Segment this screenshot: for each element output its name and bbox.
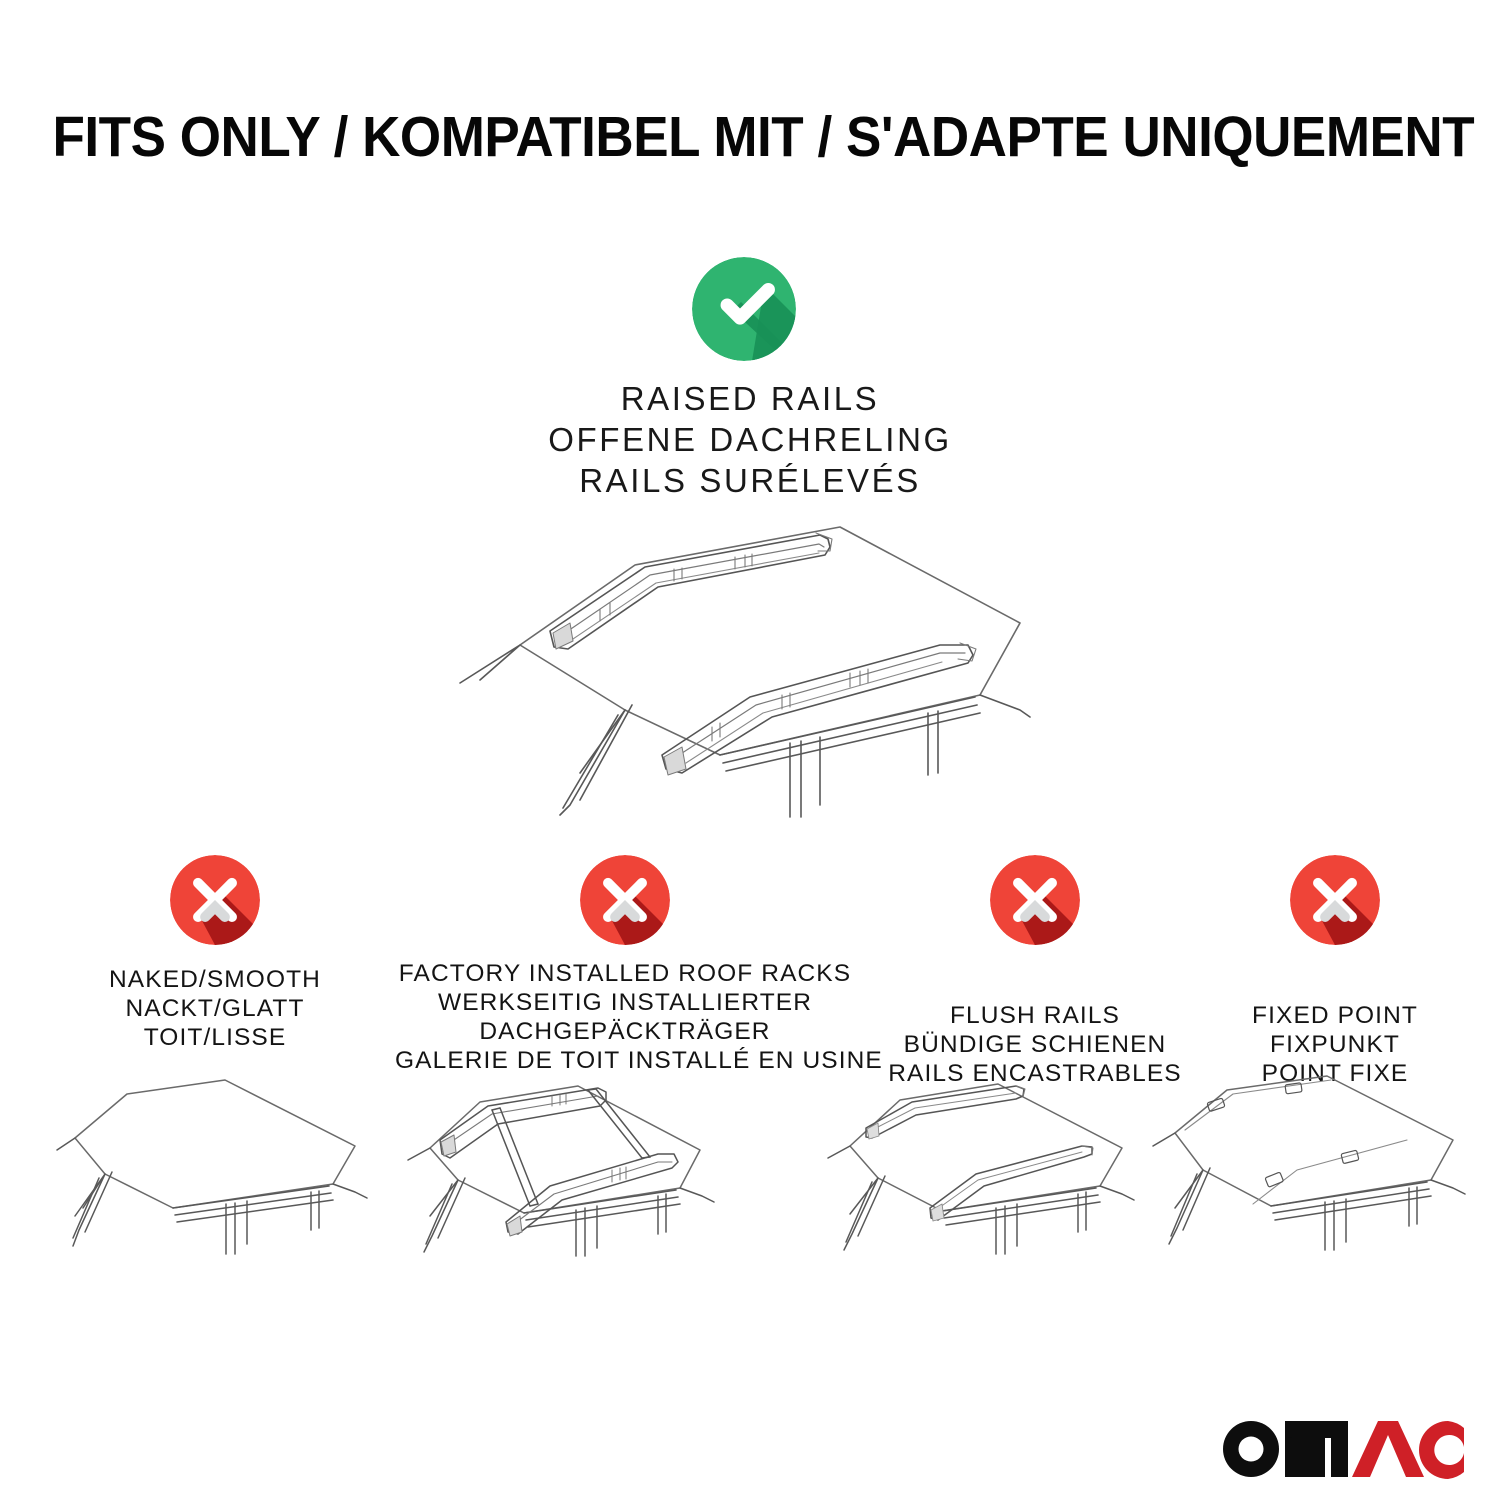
car-roof-naked-smooth-illustration [55,1058,435,1313]
approved-label-en: RAISED RAILS [450,378,1050,419]
logo-letter-o [1223,1421,1279,1477]
x-icon-container [880,855,1190,951]
rejected-label-line-1: FACTORY INSTALLED ROOF RACKS [395,959,855,988]
car-roof-fixed-point-illustration [1145,1058,1500,1313]
rejected-label-line-2: WERKSEITIG INSTALLIERTER [395,988,855,1017]
check-circle-icon [692,257,796,361]
car-roof-factory-installed-roof-racks-illustration [400,1058,780,1313]
logo-letter-c [1419,1421,1464,1479]
page-title: FITS ONLY / KOMPATIBEL MIT / S'ADAPTE UN… [53,104,1448,170]
logo-letter-a [1352,1421,1424,1477]
x-icon-container [1215,855,1455,951]
x-icon-container [40,855,390,951]
approved-label-fr: RAILS SURÉLEVÉS [450,460,1050,501]
rejected-label-line-2: FIXPUNKT [1215,1030,1455,1059]
car-roof-raised-rails-illustration [420,505,1090,835]
rejected-label-line-3: TOIT/LISSE [40,1023,390,1052]
rejected-option-factory-roof-racks: FACTORY INSTALLED ROOF RACKS WERKSEITIG … [395,855,855,1075]
x-circle-icon [170,855,260,945]
rejected-label-line-2: BÜNDIGE SCHIENEN [880,1030,1190,1059]
rejected-option-fixed-point: FIXED POINT FIXPUNKT POINT FIXE [1215,855,1455,1088]
approved-label-de: OFFENE DACHRELING [450,419,1050,460]
x-circle-icon [1290,855,1380,945]
x-circle-icon [580,855,670,945]
x-icon-container [395,855,855,951]
rejected-label-line-2: NACKT/GLATT [40,994,390,1023]
logo-letter-m [1285,1421,1348,1477]
rejected-option-flush-rails: FLUSH RAILS BÜNDIGE SCHIENEN RAILS ENCAS… [880,855,1190,1088]
x-circle-icon [990,855,1080,945]
car-roof-flush-rails-illustration [820,1058,1200,1313]
omac-logo [1218,1408,1464,1482]
rejected-label-line-1: FLUSH RAILS [880,1001,1190,1030]
fitment-compatibility-infographic: FITS ONLY / KOMPATIBEL MIT / S'ADAPTE UN… [0,0,1500,1500]
rejected-label-line-1: FIXED POINT [1215,1001,1455,1030]
rejected-label-line-3: DACHGEPÄCKTRÄGER [395,1017,855,1046]
approved-fitment-label: RAISED RAILS OFFENE DACHRELING RAILS SUR… [450,378,1050,501]
rejected-option-naked-smooth: NAKED/SMOOTH NACKT/GLATT TOIT/LISSE [40,855,390,1052]
rejected-label-line-1: NAKED/SMOOTH [40,965,390,994]
rejected-label: NAKED/SMOOTH NACKT/GLATT TOIT/LISSE [40,965,390,1052]
